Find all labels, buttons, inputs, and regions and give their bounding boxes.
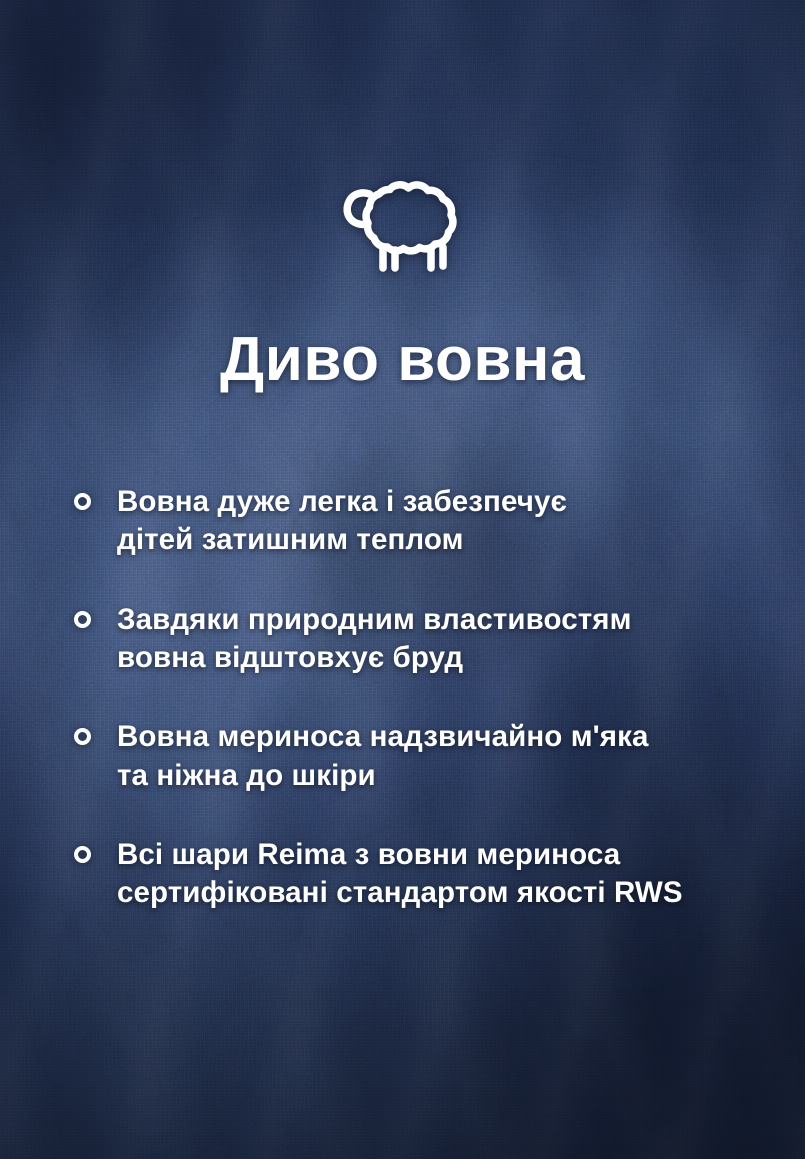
poster-content: Диво вовна Вовна дуже легка і забезпечує…: [0, 0, 805, 1159]
list-item: Вовна мериноса надзвичайно м'яка та ніжн…: [74, 718, 765, 795]
list-item-label: Вовна мериноса надзвичайно м'яка та ніжн…: [117, 718, 648, 795]
ring-bullet-icon: [74, 493, 91, 510]
benefits-list: Вовна дуже легка і забезпечує дітей зати…: [74, 483, 765, 913]
list-item: Завдяки природним властивостям вовна від…: [74, 601, 765, 678]
list-item-label: Завдяки природним властивостям вовна від…: [117, 601, 632, 678]
page-title: Диво вовна: [0, 329, 805, 391]
list-item-label: Вовна дуже легка і забезпечує дітей зати…: [117, 483, 567, 560]
ring-bullet-icon: [74, 846, 91, 863]
list-item-label: Всі шари Reima з вовни мериноса сертифік…: [117, 836, 683, 913]
list-item: Всі шари Reima з вовни мериноса сертифік…: [74, 836, 765, 913]
list-item: Вовна дуже легка і забезпечує дітей зати…: [74, 483, 765, 560]
ring-bullet-icon: [74, 611, 91, 628]
sheep-icon: [0, 176, 805, 274]
ring-bullet-icon: [74, 728, 91, 745]
wool-benefits-poster: Диво вовна Вовна дуже легка і забезпечує…: [0, 0, 805, 1159]
